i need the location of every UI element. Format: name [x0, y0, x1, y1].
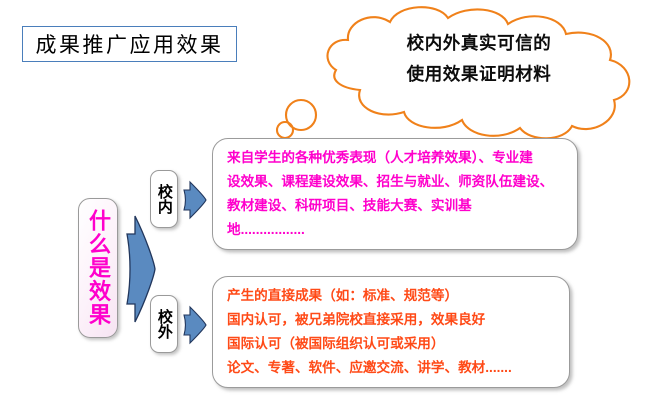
right-arrow-icon-inside — [181, 179, 209, 221]
page-title-text: 成果推广应用效果 — [36, 29, 224, 59]
content-line: 国内认可，被兄弟院校直接采用，效果良好 — [227, 308, 557, 332]
cloud-tail-bubble-small — [277, 122, 293, 138]
cloud-outline-icon — [272, 2, 644, 142]
thought-bubble: 校内外真实可信的 使用效果证明材料 — [272, 2, 644, 142]
content-line: 国际认可（被国际组织认可或采用） — [227, 332, 557, 356]
right-arrow-icon-outside — [181, 304, 209, 346]
content-line: 设效果、课程建设效果、招生与就业、师资队伍建设、 — [227, 170, 565, 194]
page-title: 成果推广应用效果 — [22, 26, 237, 62]
question-box-label: 什么是效果 — [87, 209, 109, 327]
category-label-inside: 校内 — [156, 184, 172, 214]
content-line: 来自学生的各种优秀表现（人才培养效果）、专业建 — [227, 146, 565, 170]
content-box-outside: 产生的直接成果（如：标准、规范等） 国内认可，被兄弟院校直接采用，效果良好 国际… — [212, 276, 570, 388]
slide-canvas: 成果推广应用效果 校内外真实可信的 使用效果证明材料 什么是效果 校内 — [0, 0, 651, 404]
category-box-outside: 校外 — [150, 295, 178, 353]
category-box-inside: 校内 — [150, 170, 178, 228]
category-label-outside: 校外 — [156, 309, 172, 339]
content-box-inside: 来自学生的各种优秀表现（人才培养效果）、专业建 设效果、课程建设效果、招生与就业… — [212, 138, 578, 250]
question-box: 什么是效果 — [78, 198, 118, 338]
content-line: 教材建设、科研项目、技能大赛、实训基 — [227, 194, 565, 218]
content-line: 地................. — [227, 218, 565, 242]
content-line: 论文、专著、软件、应邀交流、讲学、教材....... — [227, 356, 557, 380]
content-line: 产生的直接成果（如：标准、规范等） — [227, 284, 557, 308]
